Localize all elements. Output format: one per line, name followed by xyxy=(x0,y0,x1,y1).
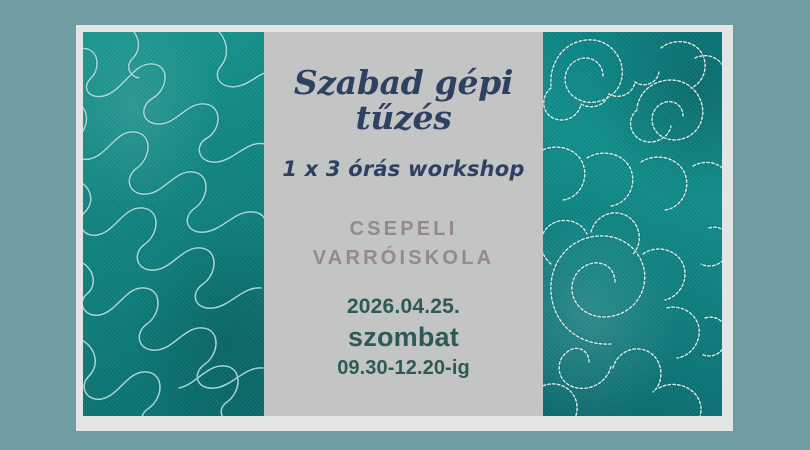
event-time-range: 09.30-12.20-ig xyxy=(337,357,470,380)
poster-title: Szabad gépi tűzés xyxy=(279,66,529,136)
poster-title-line-1: Szabad gépi xyxy=(279,66,529,101)
school-name-line-1: CSEPELI xyxy=(264,215,543,244)
left-fabric-panel xyxy=(83,32,264,416)
swirl-quilting-stitches xyxy=(543,32,722,416)
event-date: 2026.04.25. xyxy=(347,295,460,319)
right-fabric-panel xyxy=(543,32,722,416)
poster-title-line-2: tűzés xyxy=(279,101,529,136)
event-weekday: szombat xyxy=(348,322,459,353)
poster-canvas: Szabad gépi tűzés 1 x 3 órás workshop CS… xyxy=(0,0,810,450)
school-name-line-2: VARRÓISKOLA xyxy=(264,244,543,273)
poster-subtitle: 1 x 3 órás workshop xyxy=(282,157,524,181)
poster-text-block: Szabad gépi tűzés 1 x 3 órás workshop CS… xyxy=(264,32,543,416)
stipple-quilting-stitches xyxy=(83,32,264,416)
school-name: CSEPELI VARRÓISKOLA xyxy=(264,215,543,273)
